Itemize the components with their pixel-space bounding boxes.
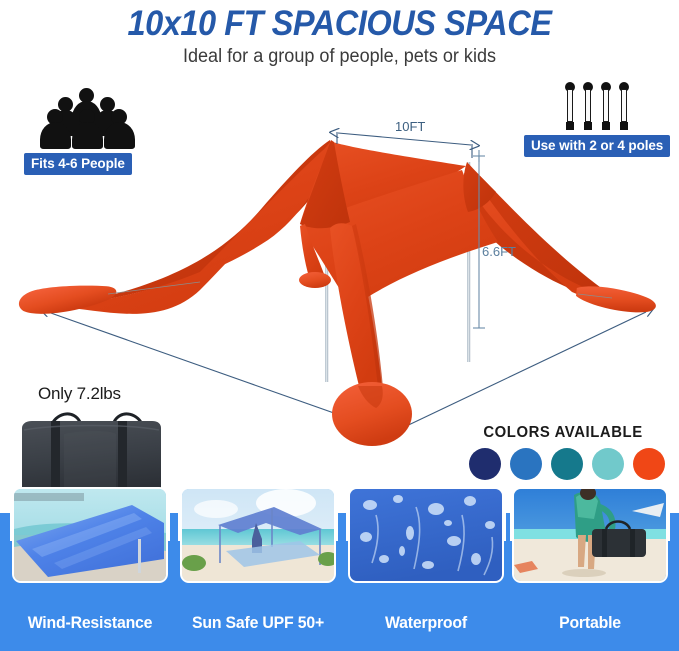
dimension-label-height: 6.6FT [482, 244, 516, 259]
wind-resistance-photo [12, 487, 168, 583]
color-swatch-orange [633, 448, 665, 480]
feature-band: Wind-Resistance [0, 513, 679, 651]
feature-label: Portable [515, 614, 665, 633]
color-swatch-teal [551, 448, 583, 480]
colors-available-title: COLORS AVAILABLE [483, 424, 642, 442]
color-swatch-aqua [592, 448, 624, 480]
feature-label: Waterproof [351, 614, 501, 633]
portable-photo [512, 487, 668, 583]
feature-label: Sun Safe UPF 50+ [183, 614, 333, 633]
color-swatch-list [469, 448, 665, 480]
color-swatch-navy [469, 448, 501, 480]
feature-waterproof: Waterproof [348, 513, 504, 651]
feature-portable: Portable [512, 513, 668, 651]
canopy-fabric [60, 140, 636, 391]
feature-wind-resistance: Wind-Resistance [12, 513, 168, 651]
sun-safe-photo [180, 487, 336, 583]
feature-sun-safe: Sun Safe UPF 50+ [180, 513, 336, 651]
carry-bag [18, 406, 164, 498]
product-infographic: 10x10 FT SPACIOUS SPACE Ideal for a grou… [0, 0, 679, 651]
waterproof-photo [348, 487, 504, 583]
dimension-label-width: 10FT [395, 119, 425, 134]
feature-label: Wind-Resistance [15, 614, 165, 633]
page-title: 10x10 FT SPACIOUS SPACE [24, 4, 655, 44]
page-subtitle: Ideal for a group of people, pets or kid… [17, 46, 662, 68]
weight-label: Only 7.2lbs [38, 384, 121, 404]
color-swatch-blue [510, 448, 542, 480]
